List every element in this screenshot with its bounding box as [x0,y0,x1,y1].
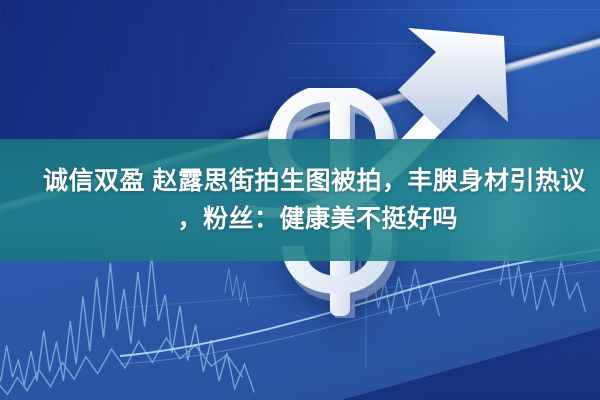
title-line-1: 诚信双盈 赵露思街拍生图被拍，丰腴身材引热议 [43,162,586,200]
title-line-2: ，粉丝：健康美不挺好吗 [177,200,586,238]
banner-image: 诚信双盈 赵露思街拍生图被拍，丰腴身材引热议 ，粉丝：健康美不挺好吗 [0,0,600,400]
page-title: 诚信双盈 赵露思街拍生图被拍，丰腴身材引热议 ，粉丝：健康美不挺好吗 [8,139,592,261]
